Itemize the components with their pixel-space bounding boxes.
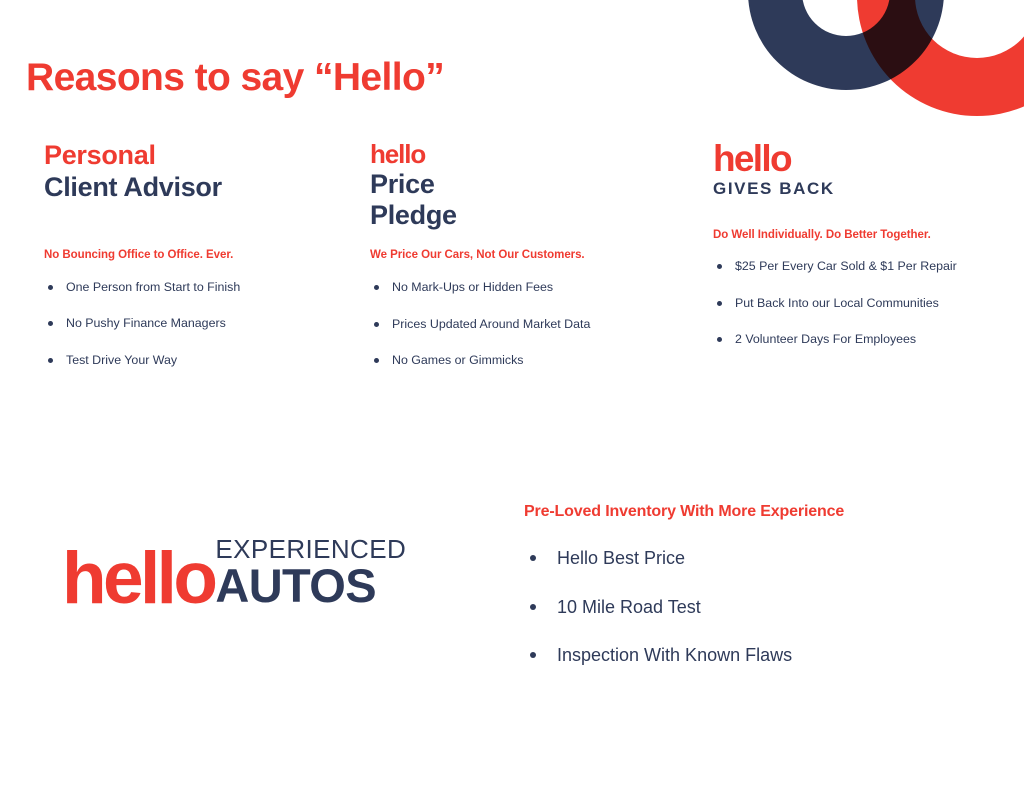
bullet-dot-icon (530, 555, 536, 561)
column-bullet-list: One Person from Start to Finish No Pushy… (44, 280, 344, 369)
column-bullet-list: $25 Per Every Car Sold & $1 Per Repair P… (713, 259, 1013, 348)
list-item-label: No Mark-Ups or Hidden Fees (392, 280, 553, 294)
list-item-label: Prices Updated Around Market Data (392, 317, 590, 331)
logo-hello-wordmark: hello (62, 548, 214, 611)
list-item: One Person from Start to Finish (44, 280, 344, 296)
bullet-dot-icon (530, 604, 536, 610)
list-item-label: Inspection With Known Flaws (557, 645, 792, 665)
column-heading-line-2: Pledge (370, 200, 675, 232)
list-item: Test Drive Your Way (44, 353, 344, 369)
list-item: Hello Best Price (524, 547, 994, 570)
feature-column-hello-gives-back: hello GIVES BACK Do Well Individually. D… (713, 140, 1013, 348)
bullet-dot-icon (374, 358, 379, 363)
list-item-label: Hello Best Price (557, 548, 685, 568)
bullet-dot-icon (717, 264, 722, 269)
decorative-rings-graphic (724, 0, 1024, 150)
column-subheading: No Bouncing Office to Office. Ever. (44, 249, 344, 263)
logo-autos-label: AUTOS (215, 565, 376, 607)
bullet-dot-icon (374, 285, 379, 290)
column-heading-line-2: Client Advisor (44, 172, 344, 204)
bottom-bullet-list: Hello Best Price 10 Mile Road Test Inspe… (524, 547, 994, 667)
list-item-label: Put Back Into our Local Communities (735, 296, 939, 310)
gives-back-tagline: GIVES BACK (713, 179, 1013, 199)
bullet-dot-icon (717, 337, 722, 342)
bullet-dot-icon (374, 322, 379, 327)
bullet-dot-icon (530, 652, 536, 658)
bottom-subheading: Pre-Loved Inventory With More Experience (524, 502, 994, 521)
feature-columns: Personal Client Advisor No Bouncing Offi… (0, 140, 1024, 420)
list-item-label: $25 Per Every Car Sold & $1 Per Repair (735, 259, 957, 273)
bottom-right-content: Pre-Loved Inventory With More Experience… (524, 502, 994, 667)
list-item: No Mark-Ups or Hidden Fees (370, 280, 675, 296)
navy-ring-shape (724, 0, 1024, 150)
logo-text-stack: EXPERIENCED AUTOS (215, 536, 406, 610)
red-ring-shape (724, 0, 1024, 150)
list-item-label: 10 Mile Road Test (557, 597, 701, 617)
page-title: Reasons to say “Hello” (26, 57, 444, 100)
list-item: No Pushy Finance Managers (44, 316, 344, 332)
bullet-dot-icon (48, 321, 53, 326)
list-item-label: No Pushy Finance Managers (66, 316, 226, 330)
feature-column-hello-price-pledge: hello Price Pledge We Price Our Cars, No… (370, 140, 675, 369)
bullet-dot-icon (48, 285, 53, 290)
list-item: Inspection With Known Flaws (524, 644, 994, 667)
column-heading: hello GIVES BACK (713, 140, 1013, 199)
list-item: 2 Volunteer Days For Employees (713, 332, 1013, 348)
column-subheading: We Price Our Cars, Not Our Customers. (370, 249, 675, 263)
bullet-dot-icon (48, 358, 53, 363)
column-heading-line-1: Personal (44, 140, 344, 172)
list-item: $25 Per Every Car Sold & $1 Per Repair (713, 259, 1013, 275)
list-item: Put Back Into our Local Communities (713, 296, 1013, 312)
column-heading: Personal Client Advisor (44, 140, 344, 204)
list-item: No Games or Gimmicks (370, 353, 675, 369)
column-subheading: Do Well Individually. Do Better Together… (713, 229, 1013, 243)
hello-wordmark: hello (370, 140, 675, 169)
list-item: Prices Updated Around Market Data (370, 317, 675, 333)
list-item-label: 2 Volunteer Days For Employees (735, 332, 916, 346)
hello-wordmark: hello (713, 140, 1013, 177)
list-item-label: No Games or Gimmicks (392, 353, 524, 367)
hello-autos-logo: hello EXPERIENCED AUTOS (62, 536, 406, 610)
column-bullet-list: No Mark-Ups or Hidden Fees Prices Update… (370, 280, 675, 369)
feature-column-personal-client-advisor: Personal Client Advisor No Bouncing Offi… (44, 140, 344, 368)
list-item: 10 Mile Road Test (524, 596, 994, 619)
list-item-label: One Person from Start to Finish (66, 280, 240, 294)
column-heading: hello Price Pledge (370, 140, 675, 232)
slide-canvas: Reasons to say “Hello” Personal Client A… (0, 0, 1024, 804)
list-item-label: Test Drive Your Way (66, 353, 177, 367)
column-heading-line-1: Price (370, 169, 675, 201)
bullet-dot-icon (717, 301, 722, 306)
